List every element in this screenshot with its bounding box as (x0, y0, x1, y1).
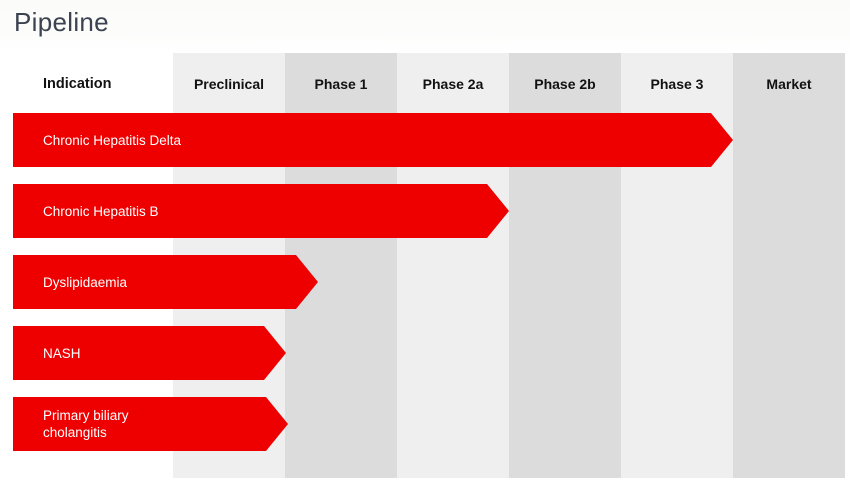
pipeline-bar[interactable]: Chronic Hepatitis B (13, 184, 487, 238)
pipeline-bar[interactable]: Chronic Hepatitis Delta (13, 113, 711, 167)
pipeline-bar-arrow-icon (266, 397, 288, 451)
pipeline-bar-arrow-icon (264, 326, 286, 380)
pipeline-bar[interactable]: NASH (13, 326, 264, 380)
pipeline-bar-arrow-icon (487, 184, 509, 238)
pipeline-bar-label: Chronic Hepatitis Delta (13, 132, 181, 149)
pipeline-bar-label: Dyslipidaemia (13, 274, 127, 291)
pipeline-chart: Pipeline Indication PreclinicalPhase 1Ph… (0, 0, 850, 486)
pipeline-bar[interactable]: Primary biliary cholangitis (13, 397, 266, 451)
pipeline-bar-label: NASH (13, 345, 81, 362)
pipeline-bar-arrow-icon (296, 255, 318, 309)
pipeline-bar-label: Chronic Hepatitis B (13, 203, 159, 220)
pipeline-bars: Chronic Hepatitis DeltaChronic Hepatitis… (0, 0, 850, 486)
pipeline-bar-label: Primary biliary cholangitis (13, 407, 129, 441)
pipeline-bar[interactable]: Dyslipidaemia (13, 255, 296, 309)
pipeline-bar-arrow-icon (711, 113, 733, 167)
